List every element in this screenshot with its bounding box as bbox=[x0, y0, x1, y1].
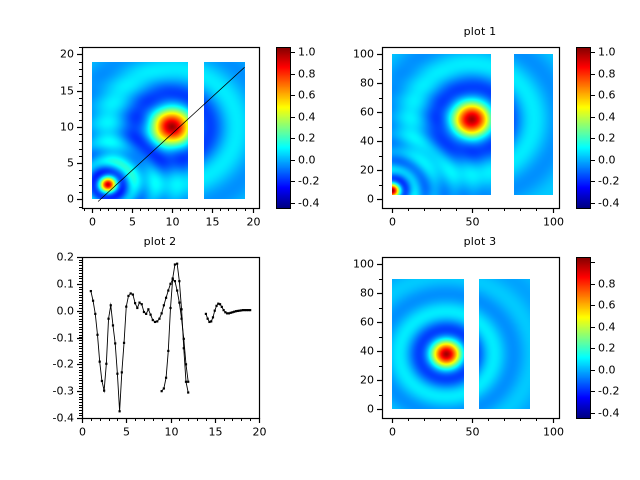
figure-canvas: plot 1 plot 2 plot 3 bbox=[0, 0, 640, 480]
heatmap-canvas-top-right[interactable] bbox=[320, 0, 640, 240]
heatmap-canvas-bottom-right[interactable] bbox=[320, 240, 640, 480]
subplot-top-left[interactable] bbox=[0, 0, 320, 240]
subplot-bottom-right[interactable]: plot 3 bbox=[320, 240, 640, 480]
subplot-bottom-left[interactable]: plot 2 bbox=[0, 240, 320, 480]
line-chart-canvas-bottom-left[interactable] bbox=[0, 240, 320, 480]
plot-area-top-right[interactable] bbox=[320, 0, 640, 240]
subplot-top-right[interactable]: plot 1 bbox=[320, 0, 640, 240]
plot-area-bottom-right[interactable] bbox=[320, 240, 640, 480]
plot-area-top-left[interactable] bbox=[0, 0, 320, 240]
heatmap-canvas-top-left[interactable] bbox=[0, 0, 320, 240]
plot-area-bottom-left[interactable] bbox=[0, 240, 320, 480]
